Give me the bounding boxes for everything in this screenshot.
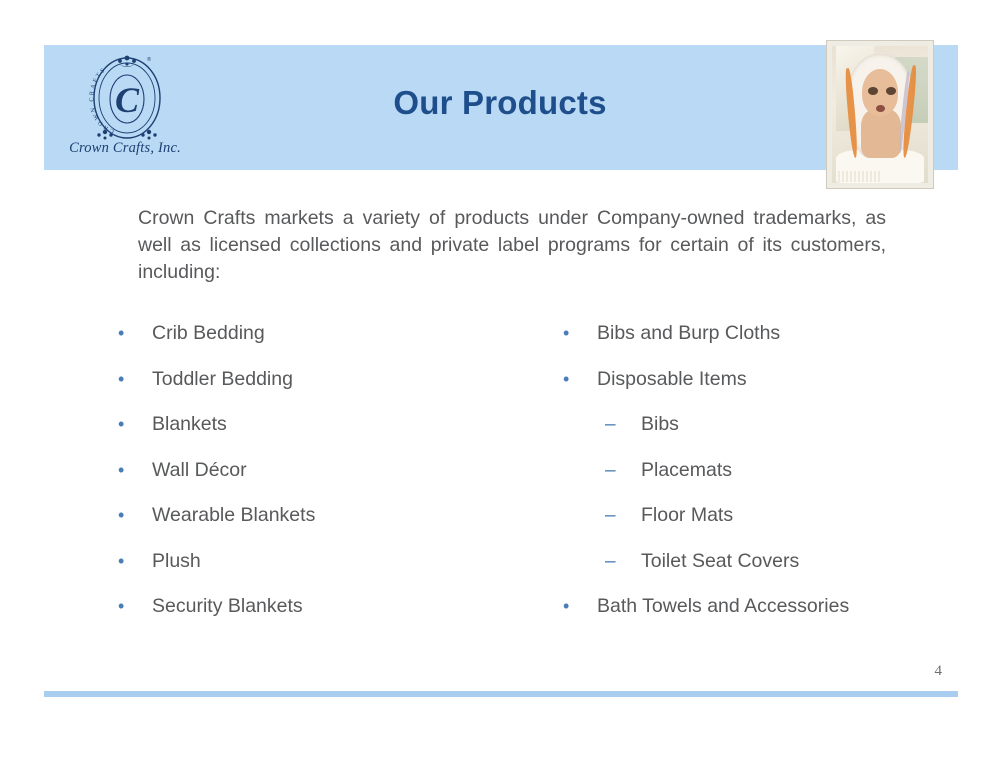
product-item-label: Wall Décor [152, 459, 247, 482]
photo-baby-body [861, 109, 901, 158]
product-item-label: Disposable Items [597, 368, 747, 391]
dash-bullet-icon: – [605, 461, 641, 480]
product-item: •Crib Bedding [118, 322, 538, 368]
product-item: •Wall Décor [118, 459, 538, 505]
product-sub-item: –Placemats [563, 459, 993, 505]
company-logo: CROWN CRAFTS C ® Crown Crafts, Inc. [55, 52, 195, 164]
dot-bullet-icon: • [563, 597, 597, 615]
dot-bullet-icon: • [118, 461, 152, 479]
product-item-label: Toddler Bedding [152, 368, 293, 391]
photo-image [832, 46, 928, 183]
product-item-label: Blankets [152, 413, 227, 436]
dot-bullet-icon: • [118, 370, 152, 388]
page-number: 4 [935, 663, 943, 680]
product-item: •Wearable Blankets [118, 504, 538, 550]
intro-paragraph: Crown Crafts markets a variety of produc… [138, 205, 886, 313]
product-item-label: Bibs and Burp Cloths [597, 322, 780, 345]
dash-bullet-icon: – [605, 415, 641, 434]
dot-bullet-icon: • [118, 506, 152, 524]
product-item-label: Placemats [641, 459, 732, 482]
product-item: •Blankets [118, 413, 538, 459]
crown-crafts-crest-icon: CROWN CRAFTS C ® [85, 52, 169, 144]
product-item-label: Crib Bedding [152, 322, 265, 345]
dot-bullet-icon: • [563, 324, 597, 342]
photo-baby-mouth [876, 105, 885, 112]
product-sub-item: –Toilet Seat Covers [563, 550, 993, 596]
product-item: •Plush [118, 550, 538, 596]
photo-towel-fringe [838, 171, 882, 182]
dash-bullet-icon: – [605, 506, 641, 525]
baby-hooded-towel-photo [827, 41, 933, 188]
slide-canvas: CROWN CRAFTS C ® Crown Crafts, Inc. [0, 0, 1000, 772]
product-item: •Bath Towels and Accessories [563, 595, 993, 641]
svg-text:C: C [115, 80, 140, 120]
logo-wordmark: Crown Crafts, Inc. [55, 140, 195, 157]
dash-bullet-icon: – [605, 552, 641, 571]
dot-bullet-icon: • [118, 324, 152, 342]
product-item-label: Wearable Blankets [152, 504, 315, 527]
dot-bullet-icon: • [118, 597, 152, 615]
product-list-right-column: •Bibs and Burp Cloths•Disposable Items–B… [563, 322, 993, 641]
product-list-left-column: •Crib Bedding•Toddler Bedding•Blankets•W… [118, 322, 538, 641]
dot-bullet-icon: • [118, 415, 152, 433]
product-item-label: Toilet Seat Covers [641, 550, 799, 573]
product-item: •Security Blankets [118, 595, 538, 641]
svg-text:CROWN CRAFTS: CROWN CRAFTS [88, 66, 115, 135]
product-item-label: Plush [152, 550, 201, 573]
product-lists: •Crib Bedding•Toddler Bedding•Blankets•W… [0, 322, 1000, 642]
footer-bar [44, 691, 958, 697]
product-item-label: Floor Mats [641, 504, 733, 527]
svg-text:®: ® [147, 56, 151, 63]
product-item-label: Bath Towels and Accessories [597, 595, 849, 618]
product-item: •Toddler Bedding [118, 368, 538, 414]
product-sub-item: –Bibs [563, 413, 993, 459]
dot-bullet-icon: • [118, 552, 152, 570]
dot-bullet-icon: • [563, 370, 597, 388]
product-item: •Bibs and Burp Cloths [563, 322, 993, 368]
product-item-label: Security Blankets [152, 595, 303, 618]
product-item: •Disposable Items [563, 368, 993, 414]
product-sub-item: –Floor Mats [563, 504, 993, 550]
page-title: Our Products [200, 84, 800, 122]
product-item-label: Bibs [641, 413, 679, 436]
